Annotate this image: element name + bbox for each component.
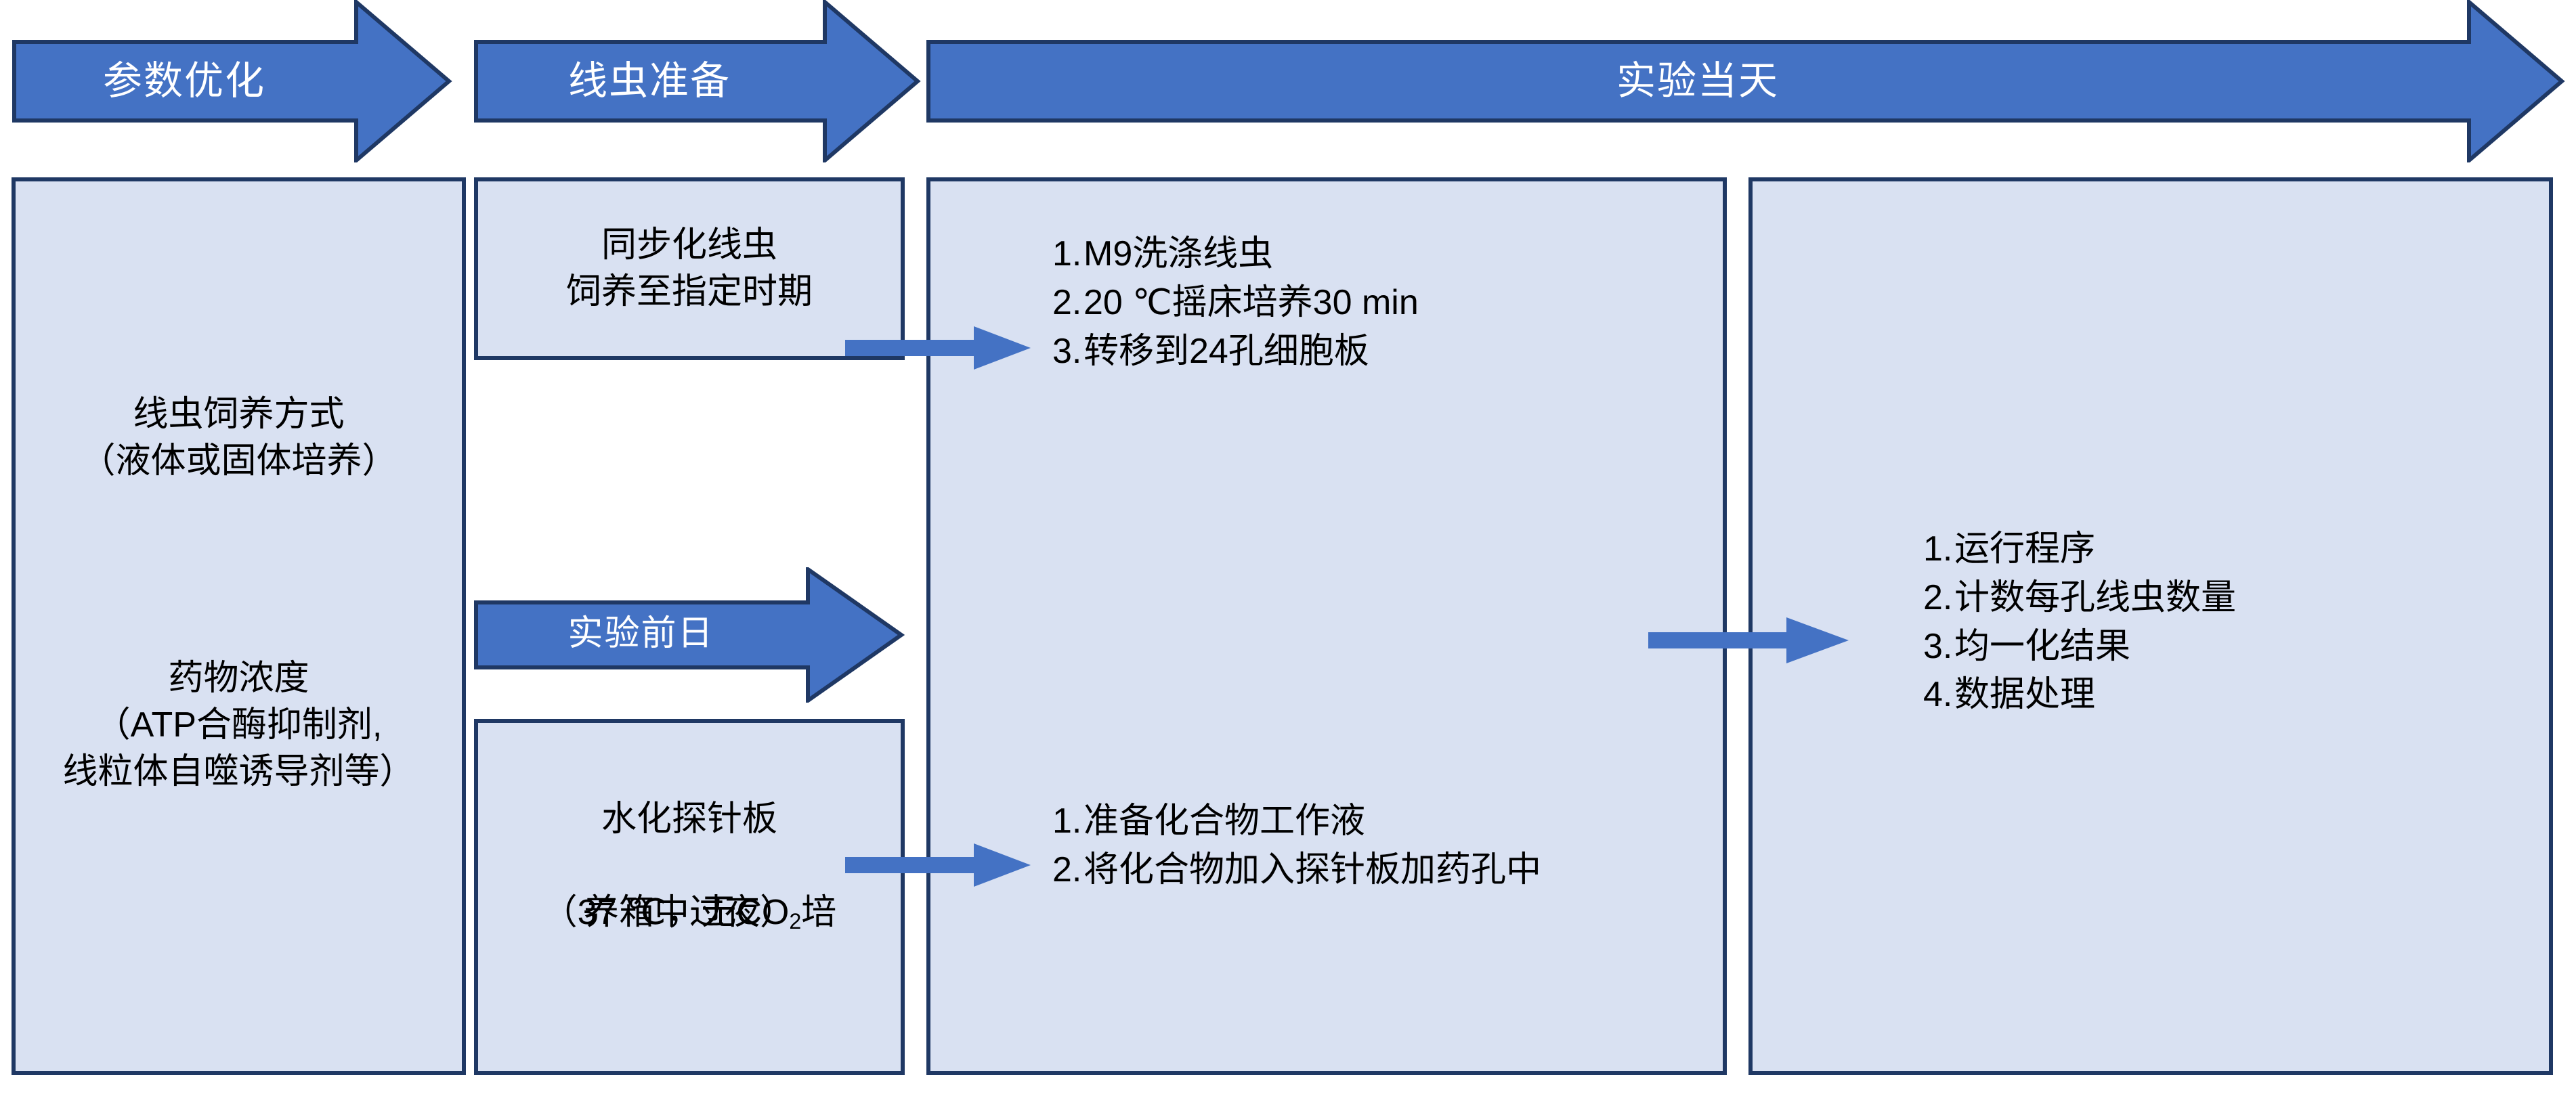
banner-arrow-2-shape	[474, 0, 921, 162]
list-item: 2.将化合物加入探针板加药孔中	[1052, 846, 1541, 895]
step-number: 1.	[1052, 230, 1083, 279]
panel-probe-plate-line1: 水化探针板	[478, 796, 901, 843]
list-item: 3.均一化结果	[1923, 623, 2236, 671]
banner-arrow-3-shape	[926, 0, 2565, 162]
connector-arrow-2-shape	[845, 841, 1032, 889]
list-item: 1.M9洗涤线虫	[1052, 230, 1419, 279]
list-item: 2.计数每孔线虫数量	[1923, 574, 2236, 623]
step-text: 将化合物加入探针板加药孔中	[1083, 850, 1541, 889]
panel-probe-plate-hydration: 水化探针板 （37 ℃，无CO2培 养箱中过夜）	[474, 719, 905, 1075]
steps-experiment-day-bottom: 1.准备化合物工作液 2.将化合物加入探针板加药孔中	[1052, 797, 1541, 895]
panel-parameter-drug-line2: （ATP合酶抑制剂,	[16, 702, 462, 749]
list-item: 2.20 ℃摇床培养30 min	[1052, 279, 1419, 328]
step-text: 数据处理	[1954, 675, 2095, 714]
step-number: 1.	[1923, 525, 1954, 574]
steps-analysis: 1.运行程序 2.计数每孔线虫数量 3.均一化结果 4.数据处理	[1923, 525, 2236, 720]
step-text: M9洗涤线虫	[1083, 234, 1273, 273]
list-item: 4.数据处理	[1923, 671, 2236, 720]
step-text: 均一化结果	[1954, 627, 2130, 666]
step-number: 2.	[1923, 574, 1954, 623]
panel-probe-plate-line3: 养箱中过夜）	[478, 889, 901, 936]
step-text: 运行程序	[1954, 529, 2095, 569]
panel-analysis: 1.运行程序 2.计数每孔线虫数量 3.均一化结果 4.数据处理	[1748, 177, 2553, 1075]
step-number: 1.	[1052, 797, 1083, 846]
stage-arrow-shape	[474, 567, 905, 703]
banner-arrow-experiment-day: 实验当天	[926, 0, 2565, 162]
step-text: 准备化合物工作液	[1083, 801, 1365, 841]
panel-parameter-drug-line3: 线粒体自噬诱导剂等）	[16, 749, 462, 795]
step-number: 4.	[1923, 671, 1954, 720]
list-item: 1.准备化合物工作液	[1052, 797, 1541, 846]
panel-experiment-day: 1.M9洗涤线虫 2.20 ℃摇床培养30 min 3.转移到24孔细胞板 1.…	[926, 177, 1727, 1075]
workflow-diagram: 参数优化 线虫准备 实验当天 线虫饲养方式 （液体或固体培养） 药物浓度 （AT…	[0, 0, 2576, 1102]
connector-arrow-worm-to-experiment	[845, 324, 1032, 372]
step-number: 3.	[1052, 328, 1083, 376]
step-text: 计数每孔线虫数量	[1954, 578, 2236, 617]
connector-arrow-1-shape	[845, 324, 1032, 372]
panel-parameter-drug-line1: 药物浓度	[16, 655, 462, 702]
step-number: 2.	[1052, 846, 1083, 895]
connector-arrow-plate-to-compound	[845, 841, 1032, 889]
panel-parameter-optimization: 线虫饲养方式 （液体或固体培养） 药物浓度 （ATP合酶抑制剂, 线粒体自噬诱导…	[12, 177, 466, 1075]
banner-arrow-1-shape	[12, 0, 452, 162]
step-text: 转移到24孔细胞板	[1083, 332, 1369, 371]
step-number: 2.	[1052, 279, 1083, 328]
panel-worm-preparation-text: 同步化线虫 饲养至指定时期	[478, 222, 901, 315]
step-number: 3.	[1923, 623, 1954, 671]
steps-experiment-day-top: 1.M9洗涤线虫 2.20 ℃摇床培养30 min 3.转移到24孔细胞板	[1052, 230, 1419, 376]
connector-arrow-3-shape	[1648, 615, 1851, 666]
list-item: 3.转移到24孔细胞板	[1052, 328, 1419, 376]
connector-arrow-experiment-to-analysis	[1648, 615, 1851, 666]
stage-arrow-day-before-experiment: 实验前日	[474, 567, 905, 703]
panel-worm-preparation: 同步化线虫 饲养至指定时期	[474, 177, 905, 360]
panel-parameter-culture-text: 线虫饲养方式 （液体或固体培养）	[16, 391, 462, 484]
banner-arrow-worm-preparation: 线虫准备	[474, 0, 921, 162]
step-text: 20 ℃摇床培养30 min	[1083, 283, 1419, 322]
banner-arrow-parameter-optimization: 参数优化	[12, 0, 452, 162]
list-item: 1.运行程序	[1923, 525, 2236, 574]
